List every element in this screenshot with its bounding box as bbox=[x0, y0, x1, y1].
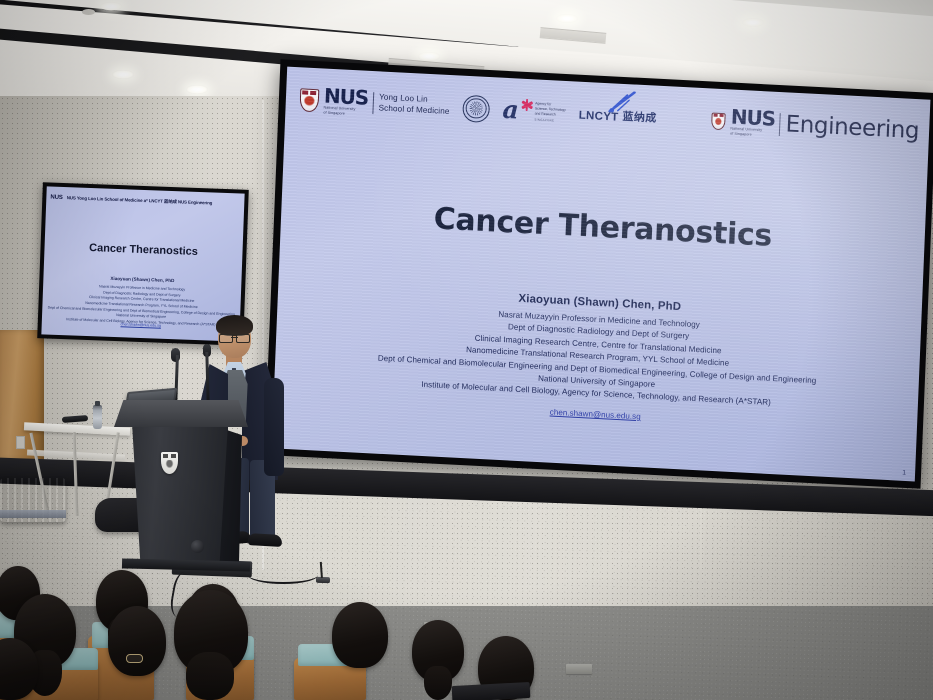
audience-hair bbox=[424, 666, 452, 700]
logo-astar: a Agency for Science, Technology and Res… bbox=[502, 100, 566, 122]
institution-seal-icon bbox=[462, 94, 490, 122]
nus-wordmark: NUS bbox=[324, 87, 369, 107]
logo-divider bbox=[779, 113, 781, 136]
tablet-device[interactable] bbox=[452, 682, 531, 700]
audience-head bbox=[332, 602, 388, 668]
floor-microphone bbox=[316, 577, 330, 583]
faculty-name: Engineering bbox=[785, 113, 919, 143]
downlight bbox=[556, 14, 578, 23]
school-of-medicine-label: Yong Loo Lin School of Medicine bbox=[378, 93, 450, 118]
audience-head bbox=[108, 606, 166, 676]
lecture-hall-scene: NUS NUS Yong Loo Lin School of Medicine … bbox=[0, 0, 933, 700]
downlight bbox=[418, 52, 440, 61]
hair bbox=[216, 315, 253, 336]
downlight bbox=[100, 2, 122, 11]
floor-plate bbox=[566, 664, 592, 674]
nus-wordmark: NUS bbox=[730, 108, 775, 128]
logo-lncyt: LNCYT 蓝纳成 bbox=[578, 106, 657, 126]
secondary-logo-strip: NUS NUS Yong Loo Lin School of Medicine … bbox=[50, 190, 240, 213]
astar-a-mark: a bbox=[502, 101, 519, 120]
secondary-slide-title: Cancer Theranostics bbox=[44, 240, 242, 259]
lectern bbox=[122, 400, 240, 565]
downlight bbox=[112, 70, 134, 79]
cable bbox=[248, 566, 318, 584]
nus-crest-icon bbox=[299, 88, 319, 112]
lectern-top bbox=[114, 400, 248, 427]
downlight bbox=[742, 18, 764, 27]
logo-nus-medicine: NUS National University of Singapore Yon… bbox=[299, 85, 450, 121]
eyeglasses-icon bbox=[219, 334, 250, 341]
logo-divider bbox=[372, 92, 374, 114]
slide-title: Cancer Theranostics bbox=[281, 194, 926, 262]
nus-crest-icon bbox=[711, 112, 726, 130]
astar-star-icon bbox=[521, 100, 532, 112]
secondary-logo-text: NUS Yong Loo Lin School of Medicine a* L… bbox=[67, 195, 213, 206]
wall-outlet bbox=[16, 436, 25, 449]
smoke-detector-icon bbox=[82, 9, 95, 15]
slide-number: 1 bbox=[902, 470, 906, 477]
lectern-control-knob[interactable] bbox=[191, 540, 204, 553]
lectern-body bbox=[128, 426, 232, 565]
downlight bbox=[186, 85, 208, 94]
presentation-slide: NUS National University of Singapore Yon… bbox=[272, 67, 931, 482]
logo-nus-engineering: NUS National University of Singapore Eng… bbox=[711, 107, 920, 146]
main-presentation-display: NUS National University of Singapore Yon… bbox=[264, 59, 933, 488]
astar-text: Agency for Science, Technology and Resea… bbox=[535, 102, 567, 117]
hair-clip bbox=[126, 654, 143, 663]
navy-suitcase[interactable] bbox=[0, 478, 66, 522]
water-bottle[interactable] bbox=[93, 405, 102, 429]
arm-right bbox=[264, 378, 284, 476]
lncyt-swoosh-icon bbox=[608, 90, 639, 114]
shoe-right bbox=[248, 533, 283, 547]
astar-country: SINGAPORE bbox=[534, 117, 565, 123]
audience-hair bbox=[186, 652, 234, 700]
